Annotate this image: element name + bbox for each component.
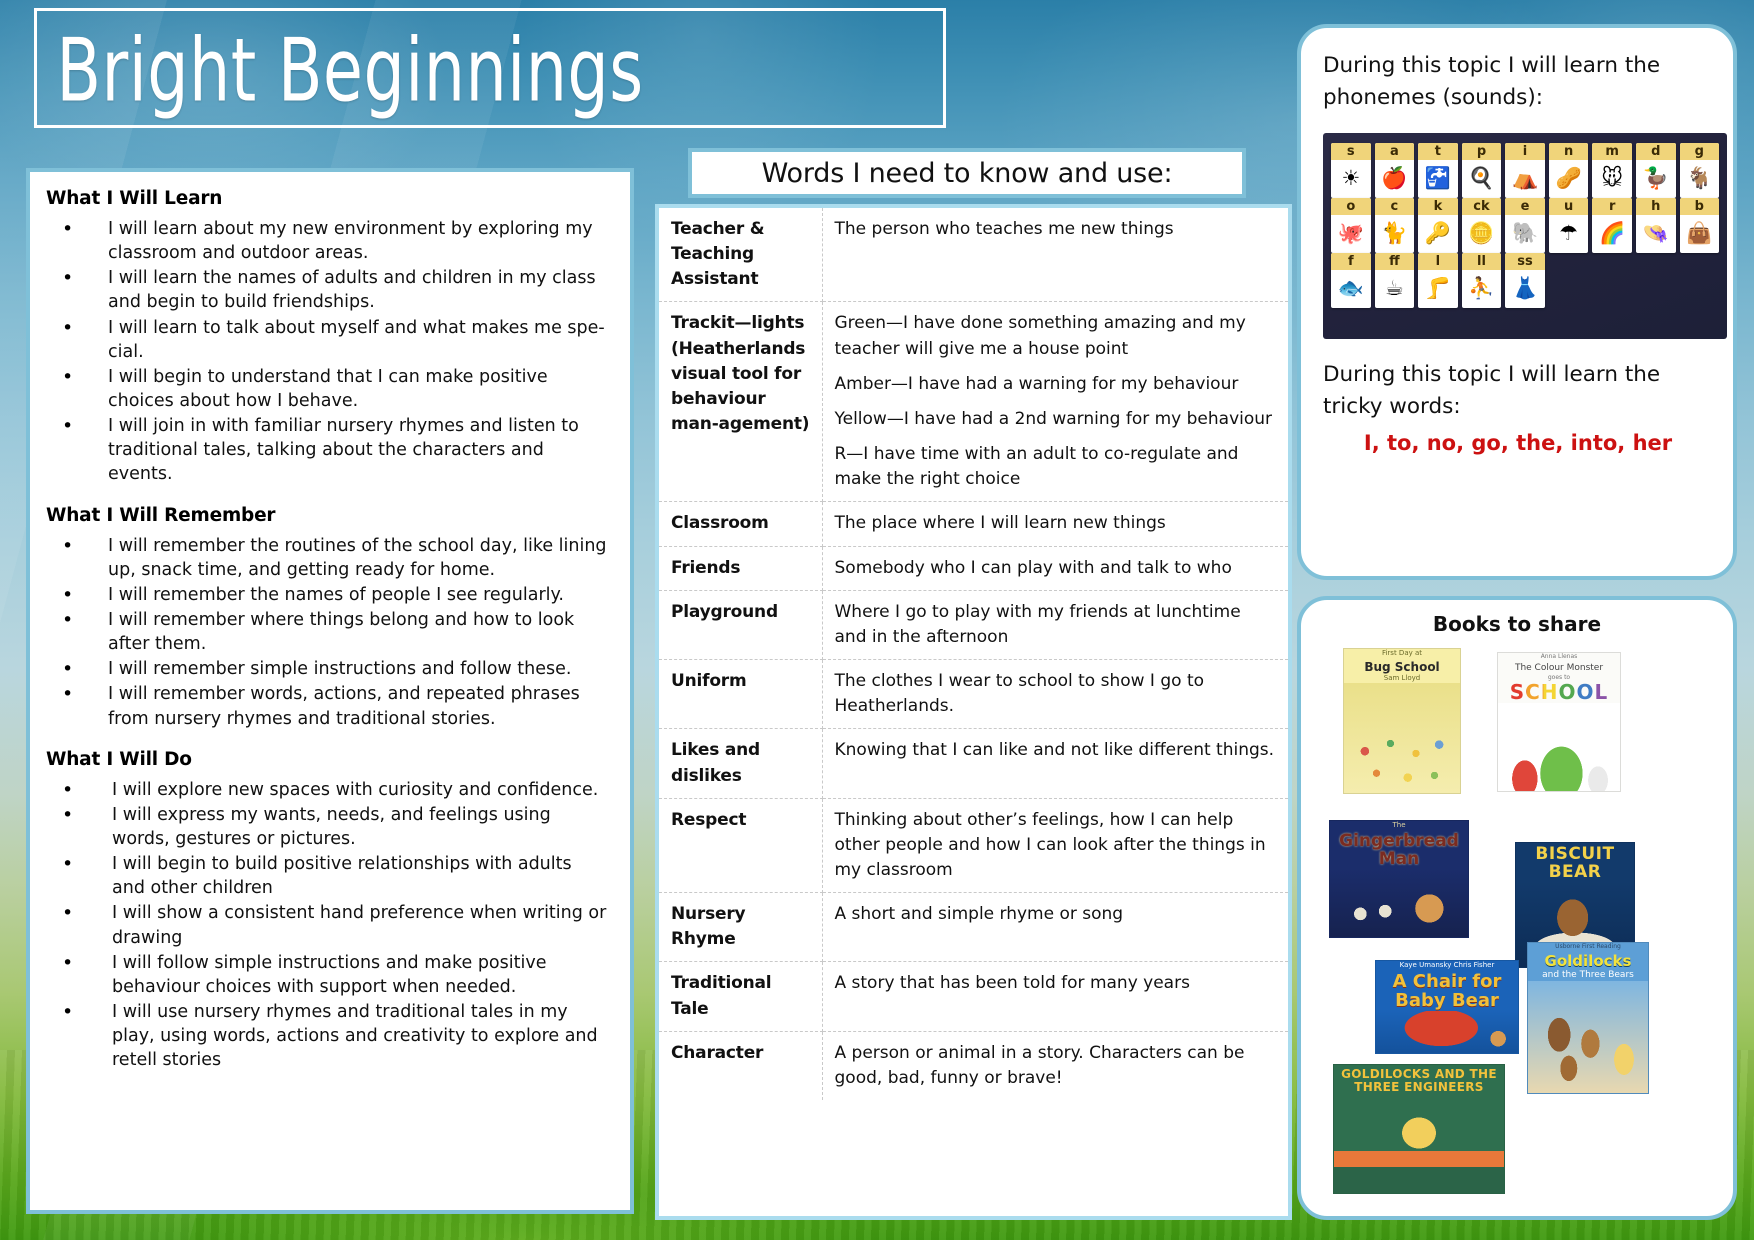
phoneme-letter: c <box>1375 198 1415 215</box>
vocab-term: Traditional Tale <box>659 962 822 1031</box>
list-item: I will explore new spaces with curiosity… <box>46 778 610 802</box>
book-title: The Colour Monster <box>1498 661 1620 673</box>
vocab-term: Nursery Rhyme <box>659 893 822 962</box>
book-title: A Chair for Baby Bear <box>1376 970 1518 1011</box>
vocab-definition: Where I go to play with my friends at lu… <box>822 590 1288 659</box>
table-row: FriendsSomebody who I can play with and … <box>659 546 1288 590</box>
phoneme-picture-icon: 🍳 <box>1462 160 1502 198</box>
phoneme-card: i⛺ <box>1505 143 1545 198</box>
vocab-definition-line: A person or animal in a story. Character… <box>835 1041 1279 1091</box>
phoneme-letter: ss <box>1505 253 1545 270</box>
table-row: Nursery RhymeA short and simple rhyme or… <box>659 893 1288 962</box>
tricky-words-intro: During this topic I will learn the trick… <box>1323 359 1713 424</box>
book-author: Anna Llenas <box>1498 653 1620 661</box>
book-title: Gingerbread Man <box>1330 830 1468 869</box>
phoneme-card: e🐘 <box>1505 198 1545 253</box>
book-subtitle-top: First Day at <box>1344 649 1460 658</box>
phoneme-letter: l <box>1418 253 1458 270</box>
phoneme-letter: u <box>1549 198 1589 215</box>
phoneme-letter: s <box>1331 143 1371 160</box>
list-item: I will remember words, actions, and repe… <box>46 682 610 730</box>
list-item: I will begin to build positive relations… <box>46 852 610 900</box>
phoneme-picture-icon: 🐟 <box>1331 270 1371 308</box>
list-item: I will remember the names of people I se… <box>46 583 610 607</box>
book-cover-art <box>1498 703 1620 791</box>
phoneme-card: ll⛹ <box>1462 253 1502 308</box>
table-row: ClassroomThe place where I will learn ne… <box>659 502 1288 546</box>
book-cover-colour-monster: Anna Llenas The Colour Monster goes to S… <box>1497 652 1621 792</box>
phoneme-row: o🐙c🐈k🔑ck🪙e🐘u☂r🌈h👒b👜 <box>1331 198 1719 253</box>
book-title: GOLDILOCKS AND THE THREE ENGINEERS <box>1334 1065 1504 1093</box>
list-item: I will begin to understand that I can ma… <box>46 365 610 413</box>
vocab-definition-line: The person who teaches me new things <box>835 217 1279 242</box>
phoneme-letter: n <box>1549 143 1589 160</box>
list-item: I will remember the routines of the scho… <box>46 534 610 582</box>
list-item: I will join in with familiar nursery rhy… <box>46 414 610 486</box>
phoneme-card: ff☕ <box>1375 253 1415 308</box>
learning-objectives-panel: What I Will LearnI will learn about my n… <box>26 168 634 1214</box>
phoneme-picture-icon: 🐘 <box>1505 215 1545 253</box>
phoneme-letter: k <box>1418 198 1458 215</box>
vocab-term: Uniform <box>659 660 822 729</box>
phoneme-letter: d <box>1636 143 1676 160</box>
vocab-term: Teacher & Teaching Assistant <box>659 208 822 302</box>
phoneme-card: k🔑 <box>1418 198 1458 253</box>
book-cover-art <box>1344 683 1460 793</box>
vocab-definition-line: The place where I will learn new things <box>835 511 1279 536</box>
vocab-definition: Knowing that I can like and not like dif… <box>822 729 1288 798</box>
phoneme-picture-icon: 🥜 <box>1549 160 1589 198</box>
phoneme-card: ss👗 <box>1505 253 1545 308</box>
table-row: PlaygroundWhere I go to play with my fri… <box>659 590 1288 659</box>
table-row: Teacher & Teaching AssistantThe person w… <box>659 208 1288 302</box>
vocab-definition-line: Where I go to play with my friends at lu… <box>835 600 1279 650</box>
phoneme-card: ck🪙 <box>1462 198 1502 253</box>
phoneme-letter: p <box>1462 143 1502 160</box>
book-title: Goldilocks <box>1528 951 1648 970</box>
phoneme-picture-icon: ⛺ <box>1505 160 1545 198</box>
phoneme-card: l🦵 <box>1418 253 1458 308</box>
phoneme-picture-icon: 🪙 <box>1462 215 1502 253</box>
section-bullet-list: I will remember the routines of the scho… <box>46 534 610 731</box>
vocab-definition: Somebody who I can play with and talk to… <box>822 546 1288 590</box>
book-cover-goldilocks-three-engineers: GOLDILOCKS AND THE THREE ENGINEERS <box>1333 1064 1505 1194</box>
vocab-definition: The clothes I wear to school to show I g… <box>822 660 1288 729</box>
books-title: Books to share <box>1315 612 1719 636</box>
list-item: I will learn about my new environment by… <box>46 217 610 265</box>
section-heading: What I Will Remember <box>46 505 610 526</box>
phoneme-card: u☂ <box>1549 198 1589 253</box>
phoneme-picture-icon: 🐐 <box>1680 160 1720 198</box>
book-title: BISCUIT BEAR <box>1516 843 1634 882</box>
table-row: RespectThinking about other’s feelings, … <box>659 798 1288 892</box>
phoneme-letter: b <box>1680 198 1720 215</box>
vocab-definition-line: R—I have time with an adult to co-regula… <box>835 442 1279 492</box>
phoneme-chart-image: s☀a🍎t🚰p🍳i⛺n🥜m🐭d🦆g🐐o🐙c🐈k🔑ck🪙e🐘u☂r🌈h👒b👜f🐟f… <box>1323 133 1727 339</box>
vocab-definition-line: Somebody who I can play with and talk to… <box>835 556 1279 581</box>
book-cover-chair-for-baby-bear: Kaye Umansky Chris Fisher A Chair for Ba… <box>1375 960 1519 1054</box>
phoneme-picture-icon: 🐙 <box>1331 215 1371 253</box>
book-cover-gingerbread-man: The Gingerbread Man <box>1329 820 1469 938</box>
book-title: Bug School <box>1344 658 1460 674</box>
vocab-term: Likes and dislikes <box>659 729 822 798</box>
section-heading: What I Will Learn <box>46 188 610 209</box>
table-row: Traditional TaleA story that has been to… <box>659 962 1288 1031</box>
phoneme-picture-icon: 👗 <box>1505 270 1545 308</box>
vocab-definition-line: Amber—I have had a warning for my behavi… <box>835 372 1279 397</box>
phoneme-letter: e <box>1505 198 1545 215</box>
phoneme-card: c🐈 <box>1375 198 1415 253</box>
phoneme-card: s☀ <box>1331 143 1371 198</box>
vocab-term: Classroom <box>659 502 822 546</box>
vocab-term: Trackit—lights (Heatherlands visual tool… <box>659 302 822 502</box>
book-subtitle-top: The <box>1330 821 1468 830</box>
vocab-term: Respect <box>659 798 822 892</box>
phoneme-letter: o <box>1331 198 1371 215</box>
phoneme-card: m🐭 <box>1592 143 1632 198</box>
books-to-share-card: Books to share First Day at Bug School S… <box>1297 596 1737 1220</box>
vocab-definition-line: Knowing that I can like and not like dif… <box>835 738 1279 763</box>
phoneme-card: t🚰 <box>1418 143 1458 198</box>
phoneme-row: f🐟ff☕l🦵ll⛹ss👗 <box>1331 253 1719 308</box>
phoneme-card: h👒 <box>1636 198 1676 253</box>
phoneme-picture-icon: ☕ <box>1375 270 1415 308</box>
table-row: Trackit—lights (Heatherlands visual tool… <box>659 302 1288 502</box>
list-item: I will use nursery rhymes and traditiona… <box>46 1000 610 1072</box>
list-item: I will learn the names of adults and chi… <box>46 266 610 314</box>
phoneme-card: d🦆 <box>1636 143 1676 198</box>
book-subtitle: and the Three Bears <box>1528 970 1648 981</box>
vocab-definition: The person who teaches me new things <box>822 208 1288 302</box>
section-bullet-list: I will learn about my new environment by… <box>46 217 610 487</box>
book-cover-art <box>1330 869 1468 937</box>
phonics-intro-text: During this topic I will learn the phone… <box>1323 50 1713 115</box>
phoneme-letter: m <box>1592 143 1632 160</box>
book-cover-art <box>1528 981 1648 1093</box>
book-cover-goldilocks-three-bears: Usborne First Reading Goldilocks and the… <box>1527 942 1649 1094</box>
tricky-words-list: I, to, no, go, the, into, her <box>1323 431 1713 455</box>
phoneme-picture-icon: 🐭 <box>1592 160 1632 198</box>
phoneme-letter: ff <box>1375 253 1415 270</box>
phoneme-card: a🍎 <box>1375 143 1415 198</box>
phoneme-letter: f <box>1331 253 1371 270</box>
vocab-definition: Thinking about other’s feelings, how I c… <box>822 798 1288 892</box>
phoneme-picture-icon: 🚰 <box>1418 160 1458 198</box>
vocab-term: Friends <box>659 546 822 590</box>
vocab-definition-line: Green—I have done something amazing and … <box>835 311 1279 361</box>
book-cover-art <box>1376 1011 1518 1053</box>
phoneme-picture-icon: 🌈 <box>1592 215 1632 253</box>
phoneme-letter: g <box>1680 143 1720 160</box>
list-item: I will remember where things belong and … <box>46 608 610 656</box>
phoneme-letter: h <box>1636 198 1676 215</box>
phoneme-picture-icon: 👜 <box>1680 215 1720 253</box>
phoneme-card: n🥜 <box>1549 143 1589 198</box>
section-bullet-list: I will explore new spaces with curiosity… <box>46 778 610 1073</box>
phoneme-letter: t <box>1418 143 1458 160</box>
vocab-definition: A story that has been told for many year… <box>822 962 1288 1031</box>
vocab-header-label: Words I need to know and use: <box>762 158 1173 189</box>
phoneme-card: f🐟 <box>1331 253 1371 308</box>
phoneme-picture-icon: 🔑 <box>1418 215 1458 253</box>
book-series: Usborne First Reading <box>1528 943 1648 951</box>
table-row: CharacterA person or animal in a story. … <box>659 1031 1288 1100</box>
vocab-definition: A short and simple rhyme or song <box>822 893 1288 962</box>
phoneme-picture-icon: 👒 <box>1636 215 1676 253</box>
list-item: I will remember simple instructions and … <box>46 657 610 681</box>
book-author: Sam Lloyd <box>1344 674 1460 683</box>
vocab-header-banner: Words I need to know and use: <box>688 148 1246 198</box>
section-heading: What I Will Do <box>46 749 610 770</box>
book-cover-art <box>1334 1093 1504 1193</box>
list-item: I will express my wants, needs, and feel… <box>46 803 610 851</box>
list-item: I will follow simple instructions and ma… <box>46 951 610 999</box>
vocabulary-panel: Teacher & Teaching AssistantThe person w… <box>655 204 1292 1220</box>
phoneme-picture-icon: 🐈 <box>1375 215 1415 253</box>
vocab-definition-line: A short and simple rhyme or song <box>835 902 1279 927</box>
vocabulary-table: Teacher & Teaching AssistantThe person w… <box>659 208 1288 1100</box>
phoneme-card: o🐙 <box>1331 198 1371 253</box>
vocab-definition-line: A story that has been told for many year… <box>835 971 1279 996</box>
vocab-definition: A person or animal in a story. Character… <box>822 1031 1288 1100</box>
phonics-card: During this topic I will learn the phone… <box>1297 24 1737 580</box>
list-item: I will show a consistent hand preference… <box>46 901 610 949</box>
title-frame: Bright Beginnings <box>34 8 946 128</box>
page-title: Bright Beginnings <box>37 0 834 142</box>
list-item: I will learn to talk about myself and wh… <box>46 316 610 364</box>
phoneme-letter: ll <box>1462 253 1502 270</box>
phoneme-picture-icon: ☂ <box>1549 215 1589 253</box>
vocab-term: Playground <box>659 590 822 659</box>
phoneme-card: b👜 <box>1680 198 1720 253</box>
book-cover-bug-school: First Day at Bug School Sam Lloyd <box>1343 648 1461 794</box>
phoneme-card: p🍳 <box>1462 143 1502 198</box>
phoneme-letter: i <box>1505 143 1545 160</box>
vocab-definition: Green—I have done something amazing and … <box>822 302 1288 502</box>
phoneme-picture-icon: 🍎 <box>1375 160 1415 198</box>
phoneme-letter: ck <box>1462 198 1502 215</box>
book-authors: Kaye Umansky Chris Fisher <box>1376 961 1518 970</box>
phoneme-card: r🌈 <box>1592 198 1632 253</box>
table-row: Likes and dislikesKnowing that I can lik… <box>659 729 1288 798</box>
vocab-definition-line: The clothes I wear to school to show I g… <box>835 669 1279 719</box>
phoneme-letter: a <box>1375 143 1415 160</box>
phoneme-letter: r <box>1592 198 1632 215</box>
phoneme-picture-icon: 🦵 <box>1418 270 1458 308</box>
table-row: UniformThe clothes I wear to school to s… <box>659 660 1288 729</box>
book-title-school-word: SCHOOL <box>1510 682 1609 703</box>
phoneme-picture-icon: 🦆 <box>1636 160 1676 198</box>
vocab-definition-line: Yellow—I have had a 2nd warning for my b… <box>835 407 1279 432</box>
phoneme-card: g🐐 <box>1680 143 1720 198</box>
vocab-definition-line: Thinking about other’s feelings, how I c… <box>835 808 1279 883</box>
phoneme-picture-icon: ☀ <box>1331 160 1371 198</box>
vocab-term: Character <box>659 1031 822 1100</box>
book-covers-grid: First Day at Bug School Sam Lloyd Anna L… <box>1315 642 1719 1202</box>
vocab-definition: The place where I will learn new things <box>822 502 1288 546</box>
phoneme-row: s☀a🍎t🚰p🍳i⛺n🥜m🐭d🦆g🐐 <box>1331 143 1719 198</box>
phoneme-picture-icon: ⛹ <box>1462 270 1502 308</box>
